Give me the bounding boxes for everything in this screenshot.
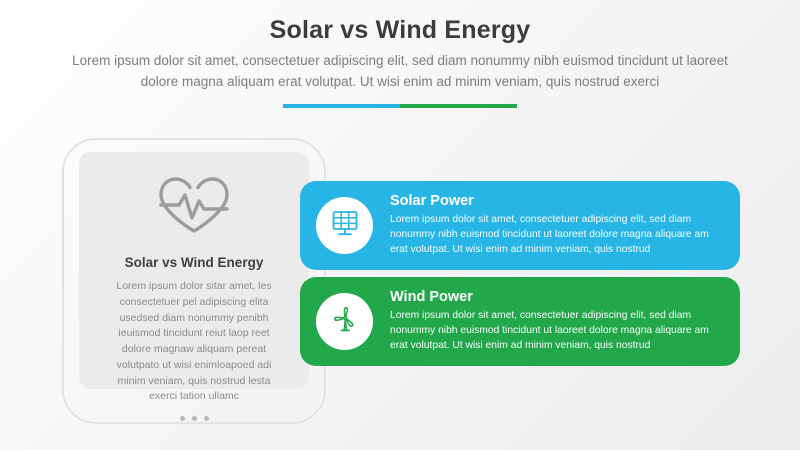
left-card[interactable]: Solar vs Wind Energy Lorem ipsum dolor s… — [79, 152, 309, 389]
page-subtitle: Lorem ipsum dolor sit amet, consectetuer… — [55, 51, 745, 93]
left-card-title: Solar vs Wind Energy — [125, 255, 264, 270]
wind-icon-circle — [316, 293, 373, 350]
accent-rule-segment-solar — [283, 104, 400, 108]
dot-3[interactable] — [204, 416, 209, 421]
dot-2[interactable] — [192, 416, 197, 421]
wind-title: Wind Power — [390, 289, 720, 305]
solar-description: Lorem ipsum dolor sit amet, consectetuer… — [390, 213, 720, 258]
accent-rule — [283, 104, 517, 108]
heartbeat-icon — [155, 174, 233, 241]
solar-power-card[interactable]: Solar Power Lorem ipsum dolor sit amet, … — [300, 181, 740, 270]
solar-panel-icon — [330, 208, 360, 243]
solar-title: Solar Power — [390, 193, 720, 209]
wind-turbine-icon — [330, 304, 360, 339]
dot-1[interactable] — [180, 416, 185, 421]
solar-text-block: Solar Power Lorem ipsum dolor sit amet, … — [390, 193, 720, 258]
solar-icon-circle — [316, 197, 373, 254]
accent-rule-segment-wind — [400, 104, 517, 108]
pagination-dots[interactable] — [180, 416, 209, 421]
wind-text-block: Wind Power Lorem ipsum dolor sit amet, c… — [390, 289, 720, 354]
left-card-description: Lorem ipsum dolor sitar amet, les consec… — [108, 279, 280, 405]
page-title: Solar vs Wind Energy — [0, 16, 800, 45]
header: Solar vs Wind Energy Lorem ipsum dolor s… — [0, 16, 800, 93]
wind-description: Lorem ipsum dolor sit amet, consectetuer… — [390, 309, 720, 354]
wind-power-card[interactable]: Wind Power Lorem ipsum dolor sit amet, c… — [300, 277, 740, 366]
